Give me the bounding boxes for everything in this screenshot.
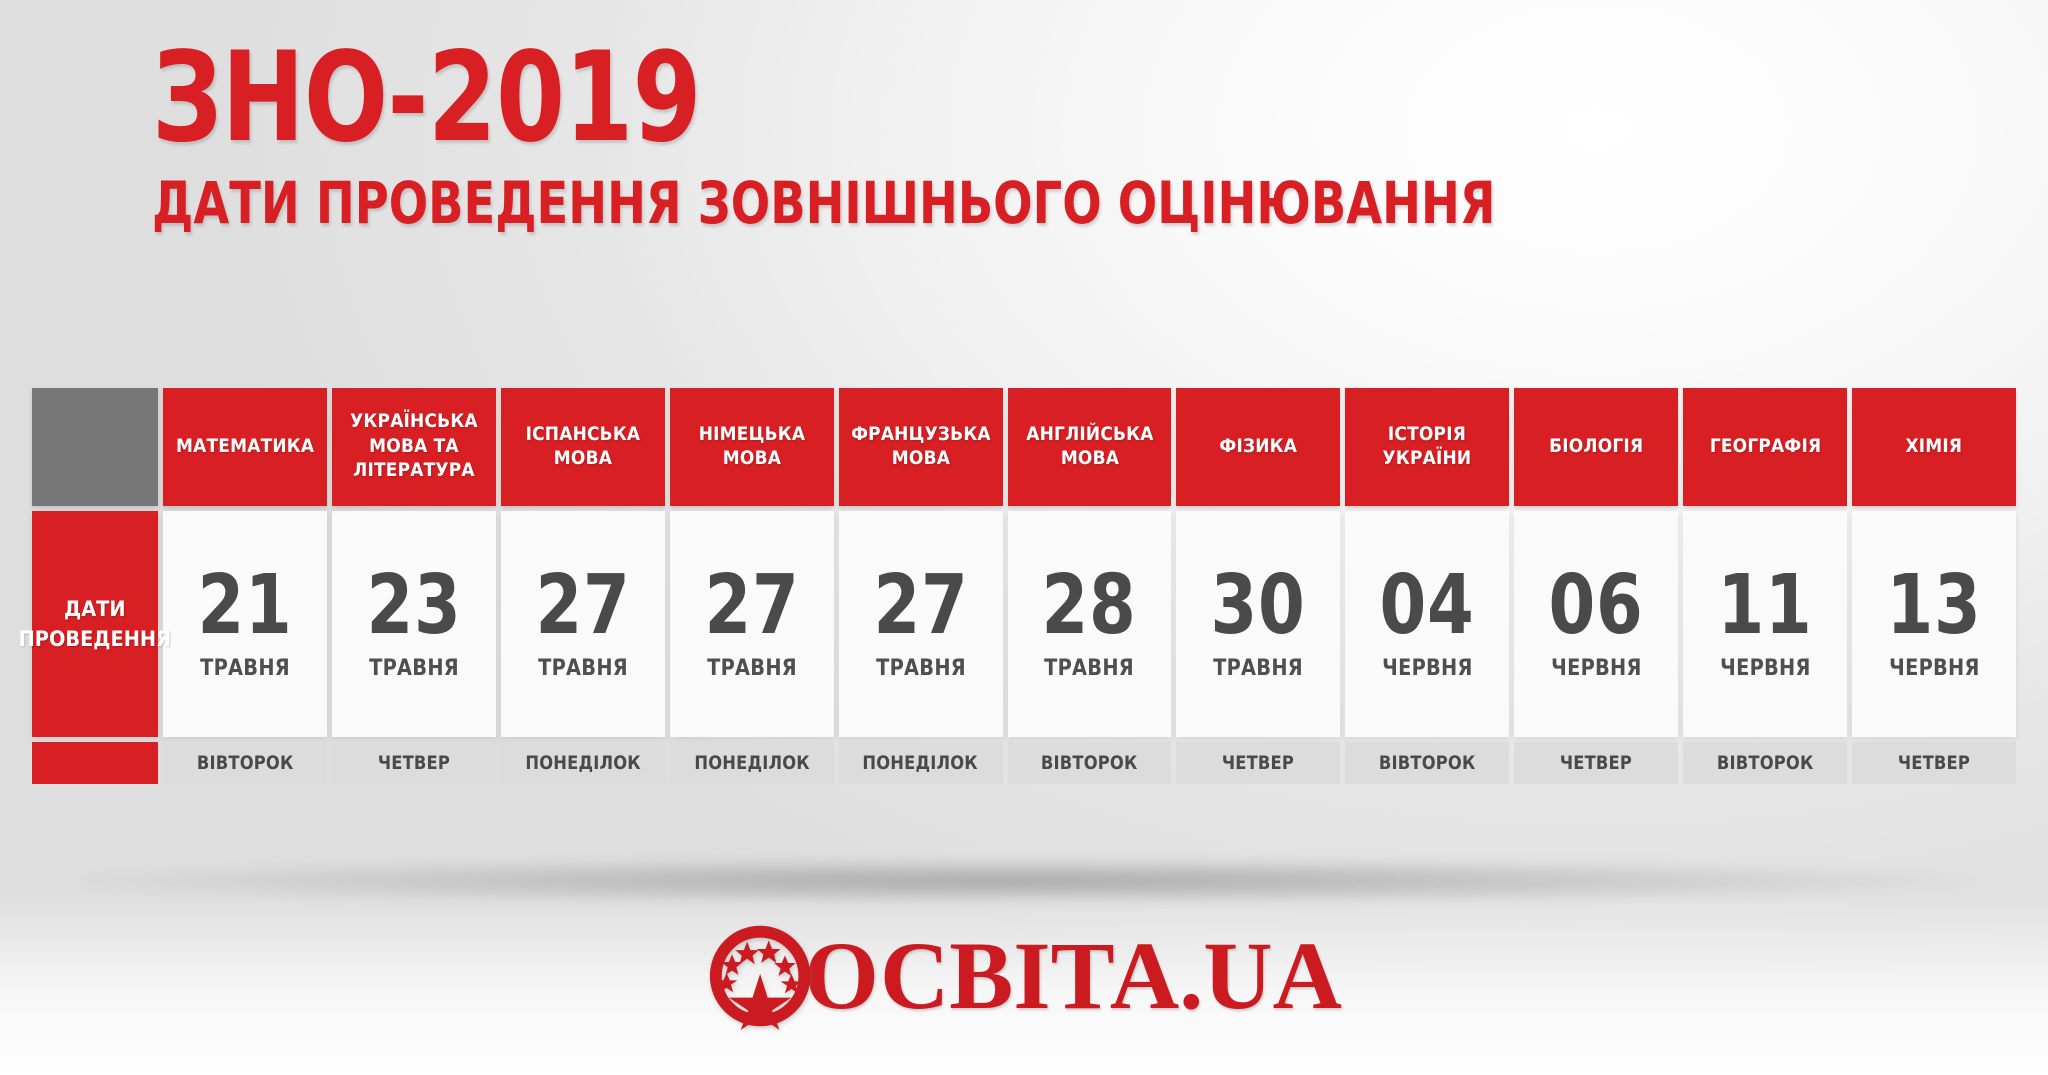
subject-header-biology: БІОЛОГІЯ (1514, 388, 1678, 506)
date-month: ТРАВНЯ (200, 656, 290, 681)
subject-header-spanish: ІСПАНСЬКА МОВА (501, 388, 665, 506)
subject-label: НІМЕЦЬКА МОВА (682, 423, 822, 472)
subject-label: ІСТОРІЯ УКРАЇНИ (1357, 423, 1497, 472)
weekday-cell: ВІВТОРОК (1683, 742, 1847, 784)
date-cell: 27 ТРАВНЯ (501, 511, 665, 737)
date-month: ЧЕРВНЯ (1889, 656, 1980, 681)
date-cell: 06 ЧЕРВНЯ (1514, 511, 1678, 737)
date-day: 28 (1042, 567, 1137, 645)
date-cell: 21 ТРАВНЯ (163, 511, 327, 737)
date-cell: 27 ТРАВНЯ (670, 511, 834, 737)
subject-label: АНГЛІЙСЬКА МОВА (1020, 423, 1160, 472)
row-label-dates: ДАТИ ПРОВЕДЕННЯ (32, 511, 158, 737)
site-logo[interactable]: ОСВІТА.UA (706, 922, 1342, 1030)
subject-label: ІСПАНСЬКА МОВА (513, 423, 653, 472)
weekday-label: ПОНЕДІЛОК (525, 752, 640, 774)
subject-label: ГЕОГРАФІЯ (1709, 435, 1820, 459)
date-month: ТРАВНЯ (369, 656, 459, 681)
star-circle-icon (706, 922, 814, 1030)
weekday-label: ЧЕТВЕР (378, 752, 450, 774)
weekday-label: ВІВТОРОК (1717, 752, 1814, 774)
date-day: 27 (535, 567, 630, 645)
weekday-row-corner (32, 742, 158, 784)
subject-header-geography: ГЕОГРАФІЯ (1683, 388, 1847, 506)
weekday-cell: ЧЕТВЕР (1514, 742, 1678, 784)
date-day: 13 (1886, 567, 1981, 645)
date-cell: 23 ТРАВНЯ (332, 511, 496, 737)
weekday-label: ЧЕТВЕР (1898, 752, 1970, 774)
date-day: 27 (704, 567, 799, 645)
weekday-label: ПОНЕДІЛОК (863, 752, 978, 774)
subject-header-history: ІСТОРІЯ УКРАЇНИ (1345, 388, 1509, 506)
schedule-table: МАТЕМАТИКА УКРАЇНСЬКА МОВА ТА ЛІТЕРАТУРА… (32, 388, 2016, 784)
date-day: 04 (1380, 567, 1475, 645)
weekday-cell: ПОНЕДІЛОК (670, 742, 834, 784)
weekday-cell: ПОНЕДІЛОК (839, 742, 1003, 784)
schedule-grid: МАТЕМАТИКА УКРАЇНСЬКА МОВА ТА ЛІТЕРАТУРА… (32, 388, 2016, 784)
weekday-label: ВІВТОРОК (1041, 752, 1138, 774)
weekday-cell: ВІВТОРОК (1345, 742, 1509, 784)
date-month: ТРАВНЯ (707, 656, 797, 681)
page-title: ЗНО-2019 (152, 38, 1352, 160)
subject-header-french: ФРАНЦУЗЬКА МОВА (839, 388, 1003, 506)
subject-label: УКРАЇНСЬКА МОВА ТА ЛІТЕРАТУРА (344, 410, 484, 483)
date-month: ТРАВНЯ (876, 656, 966, 681)
subject-label: ФІЗИКА (1220, 435, 1298, 459)
date-cell: 04 ЧЕРВНЯ (1345, 511, 1509, 737)
date-day: 06 (1549, 567, 1644, 645)
heading-block: ЗНО-2019 ДАТИ ПРОВЕДЕННЯ ЗОВНІШНЬОГО ОЦІ… (152, 38, 1652, 232)
date-day: 30 (1211, 567, 1306, 645)
date-cell: 28 ТРАВНЯ (1008, 511, 1172, 737)
subject-header-english: АНГЛІЙСЬКА МОВА (1008, 388, 1172, 506)
date-day: 23 (366, 567, 461, 645)
weekday-label: ВІВТОРОК (197, 752, 294, 774)
date-day: 27 (873, 567, 968, 645)
subject-label: ФРАНЦУЗЬКА МОВА (851, 423, 991, 472)
weekday-cell: ЧЕТВЕР (1852, 742, 2016, 784)
subject-label: МАТЕМАТИКА (176, 435, 314, 459)
date-cell: 13 ЧЕРВНЯ (1852, 511, 2016, 737)
date-month: ЧЕРВНЯ (1551, 656, 1642, 681)
subject-label: ХІМІЯ (1906, 435, 1963, 459)
date-cell: 27 ТРАВНЯ (839, 511, 1003, 737)
date-cell: 30 ТРАВНЯ (1176, 511, 1340, 737)
table-drop-shadow (80, 858, 1970, 904)
infographic-poster: ЗНО-2019 ДАТИ ПРОВЕДЕННЯ ЗОВНІШНЬОГО ОЦІ… (0, 0, 2048, 1075)
date-month: ТРАВНЯ (538, 656, 628, 681)
date-cell: 11 ЧЕРВНЯ (1683, 511, 1847, 737)
subject-header-chemistry: ХІМІЯ (1852, 388, 2016, 506)
date-day: 11 (1718, 567, 1813, 645)
table-corner-cell (32, 388, 158, 506)
date-month: ЧЕРВНЯ (1720, 656, 1811, 681)
weekday-cell: ЧЕТВЕР (1176, 742, 1340, 784)
row-label-text: ДАТИ ПРОВЕДЕННЯ (19, 594, 171, 655)
weekday-label: ЧЕТВЕР (1222, 752, 1294, 774)
weekday-label: ПОНЕДІЛОК (694, 752, 809, 774)
weekday-cell: ЧЕТВЕР (332, 742, 496, 784)
subject-header-mathematics: МАТЕМАТИКА (163, 388, 327, 506)
weekday-label: ВІВТОРОК (1379, 752, 1476, 774)
weekday-cell: ПОНЕДІЛОК (501, 742, 665, 784)
subject-header-physics: ФІЗИКА (1176, 388, 1340, 506)
date-month: ТРАВНЯ (1213, 656, 1303, 681)
subject-header-ukrainian: УКРАЇНСЬКА МОВА ТА ЛІТЕРАТУРА (332, 388, 496, 506)
subject-header-german: НІМЕЦЬКА МОВА (670, 388, 834, 506)
page-subtitle: ДАТИ ПРОВЕДЕННЯ ЗОВНІШНЬОГО ОЦІНЮВАННЯ (152, 174, 1352, 232)
weekday-cell: ВІВТОРОК (1008, 742, 1172, 784)
weekday-cell: ВІВТОРОК (163, 742, 327, 784)
logo-wordmark: ОСВІТА.UA (804, 928, 1342, 1024)
subject-label: БІОЛОГІЯ (1549, 435, 1643, 459)
date-day: 21 (197, 567, 292, 645)
date-month: ЧЕРВНЯ (1382, 656, 1473, 681)
weekday-label: ЧЕТВЕР (1560, 752, 1632, 774)
date-month: ТРАВНЯ (1045, 656, 1135, 681)
